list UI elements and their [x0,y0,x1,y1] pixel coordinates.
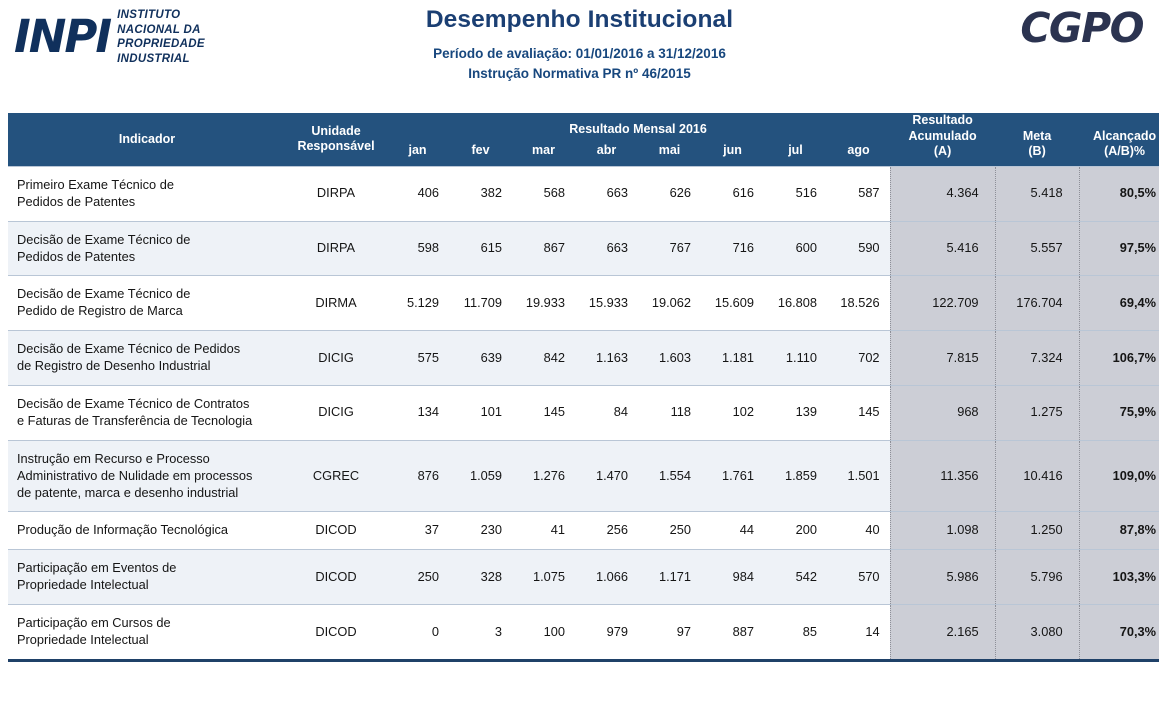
cell-month-ago: 590 [827,221,890,276]
cell-month-ago: 40 [827,512,890,550]
cell-month-mai: 1.603 [638,331,701,386]
cell-month-fev: 1.059 [449,440,512,512]
cell-meta: 1.275 [995,386,1079,441]
cell-unidade-responsavel: DICIG [286,386,386,441]
cell-month-mai: 1.554 [638,440,701,512]
cell-month-mar: 1.075 [512,550,575,605]
cell-unidade-responsavel: CGREC [286,440,386,512]
col-header-alcancado-line1: Alcançado [1079,129,1159,145]
cell-month-abr: 256 [575,512,638,550]
cell-resultado-acumulado: 5.416 [890,221,995,276]
inpi-logo: INPI INSTITUTO NACIONAL DA PROPRIEDADE I… [14,8,205,67]
cell-month-ago: 14 [827,605,890,661]
cell-resultado-acumulado: 1.098 [890,512,995,550]
indicador-line: de patente, marca e desenho industrial [17,485,282,502]
performance-table-wrap: Indicador Unidade Responsável Resultado … [8,113,1150,662]
indicador-line: Primeiro Exame Técnico de [17,177,282,194]
col-header-unidade-line2: Responsável [286,139,386,155]
cell-month-jun: 984 [701,550,764,605]
cell-resultado-acumulado: 11.356 [890,440,995,512]
cell-indicador: Primeiro Exame Técnico dePedidos de Pate… [8,166,286,221]
cell-indicador: Decisão de Exame Técnico dePedido de Reg… [8,276,286,331]
indicador-line: Administrativo de Nulidade em processos [17,468,282,485]
cell-indicador: Produção de Informação Tecnológica [8,512,286,550]
cell-resultado-acumulado: 122.709 [890,276,995,331]
cell-meta: 5.418 [995,166,1079,221]
cell-meta: 5.796 [995,550,1079,605]
col-header-month-jul: jul [764,141,827,167]
indicador-line: Decisão de Exame Técnico de Contratos [17,396,282,413]
cell-month-ago: 702 [827,331,890,386]
cell-month-jun: 887 [701,605,764,661]
col-header-meta-line1: Meta [995,129,1079,145]
cell-indicador: Decisão de Exame Técnico de Pedidosde Re… [8,331,286,386]
cell-unidade-responsavel: DIRPA [286,166,386,221]
cell-month-jun: 15.609 [701,276,764,331]
cell-resultado-acumulado: 2.165 [890,605,995,661]
cell-alcancado: 80,5% [1079,166,1159,221]
cell-unidade-responsavel: DICOD [286,550,386,605]
table-row: Decisão de Exame Técnico dePedido de Reg… [8,276,1159,331]
cell-month-jul: 1.110 [764,331,827,386]
cell-month-jul: 1.859 [764,440,827,512]
cell-month-mar: 867 [512,221,575,276]
cell-month-jun: 716 [701,221,764,276]
cell-meta: 5.557 [995,221,1079,276]
col-header-resultado-mensal: Resultado Mensal 2016 [386,113,890,141]
cell-month-jan: 134 [386,386,449,441]
cell-month-mar: 19.933 [512,276,575,331]
cell-month-jul: 85 [764,605,827,661]
indicador-line: Decisão de Exame Técnico de Pedidos [17,341,282,358]
cell-month-abr: 1.470 [575,440,638,512]
cell-month-mar: 100 [512,605,575,661]
cell-month-abr: 84 [575,386,638,441]
col-header-month-abr: abr [575,141,638,167]
cell-month-ago: 570 [827,550,890,605]
cell-month-ago: 18.526 [827,276,890,331]
indicador-line: e Faturas de Transferência de Tecnologia [17,413,282,430]
cell-month-mar: 1.276 [512,440,575,512]
table-row: Participação em Cursos dePropriedade Int… [8,605,1159,661]
inpi-logo-line-2: NACIONAL DA [117,24,201,36]
cell-month-fev: 639 [449,331,512,386]
cell-month-ago: 145 [827,386,890,441]
col-header-alcancado: Alcançado (A/B)% [1079,113,1159,166]
inpi-logo-mark: INPI [14,14,110,61]
cell-unidade-responsavel: DICOD [286,512,386,550]
cell-month-abr: 979 [575,605,638,661]
cell-meta: 7.324 [995,331,1079,386]
table-row: Decisão de Exame Técnico de Contratose F… [8,386,1159,441]
col-header-resultado-acumulado: Resultado Acumulado (A) [890,113,995,166]
cell-month-fev: 328 [449,550,512,605]
indicador-line: Participação em Cursos de [17,615,282,632]
indicador-line: Pedidos de Patentes [17,194,282,211]
cell-month-mai: 250 [638,512,701,550]
cell-month-mai: 19.062 [638,276,701,331]
col-header-unidade-line1: Unidade [286,124,386,140]
cell-resultado-acumulado: 7.815 [890,331,995,386]
cell-month-jan: 575 [386,331,449,386]
cell-indicador: Instrução em Recurso e ProcessoAdministr… [8,440,286,512]
cell-month-jan: 406 [386,166,449,221]
cell-month-ago: 587 [827,166,890,221]
cell-alcancado: 109,0% [1079,440,1159,512]
table-row: Decisão de Exame Técnico de Pedidosde Re… [8,331,1159,386]
cell-month-jan: 37 [386,512,449,550]
indicador-line: Propriedade Intelectual [17,632,282,649]
cell-month-jul: 600 [764,221,827,276]
cell-month-jan: 598 [386,221,449,276]
table-body: Primeiro Exame Técnico dePedidos de Pate… [8,166,1159,660]
cell-month-jun: 102 [701,386,764,441]
cell-alcancado: 70,3% [1079,605,1159,661]
cell-unidade-responsavel: DIRMA [286,276,386,331]
cell-month-fev: 3 [449,605,512,661]
cell-month-mar: 842 [512,331,575,386]
col-header-meta: Meta (B) [995,113,1079,166]
cell-unidade-responsavel: DICOD [286,605,386,661]
cell-alcancado: 106,7% [1079,331,1159,386]
col-header-month-jan: jan [386,141,449,167]
table-row: Produção de Informação TecnológicaDICOD3… [8,512,1159,550]
cell-month-jun: 1.761 [701,440,764,512]
table-row: Instrução em Recurso e ProcessoAdministr… [8,440,1159,512]
cell-meta: 10.416 [995,440,1079,512]
indicador-line: Produção de Informação Tecnológica [17,522,282,539]
table-row: Decisão de Exame Técnico dePedidos de Pa… [8,221,1159,276]
cell-month-jul: 200 [764,512,827,550]
cell-alcancado: 103,3% [1079,550,1159,605]
table-row: Participação em Eventos dePropriedade In… [8,550,1159,605]
indicador-line: Decisão de Exame Técnico de [17,286,282,303]
indicador-line: Instrução em Recurso e Processo [17,451,282,468]
cell-indicador: Participação em Cursos dePropriedade Int… [8,605,286,661]
cell-month-jan: 876 [386,440,449,512]
cell-month-abr: 663 [575,166,638,221]
cell-month-fev: 101 [449,386,512,441]
inpi-logo-line-1: INSTITUTO [117,9,180,21]
cell-month-jan: 250 [386,550,449,605]
cell-month-mai: 118 [638,386,701,441]
cell-month-mai: 626 [638,166,701,221]
cell-unidade-responsavel: DICIG [286,331,386,386]
cell-month-jul: 139 [764,386,827,441]
cell-month-fev: 11.709 [449,276,512,331]
indicador-line: Propriedade Intelectual [17,577,282,594]
indicador-line: Decisão de Exame Técnico de [17,232,282,249]
cell-month-ago: 1.501 [827,440,890,512]
cell-indicador: Decisão de Exame Técnico dePedidos de Pa… [8,221,286,276]
cell-month-mai: 767 [638,221,701,276]
cell-alcancado: 69,4% [1079,276,1159,331]
normative-instruction: Instrução Normativa PR nº 46/2015 [0,64,1159,84]
col-header-meta-line2: (B) [995,144,1079,160]
table-header: Indicador Unidade Responsável Resultado … [8,113,1159,166]
indicador-line: Participação em Eventos de [17,560,282,577]
col-header-acumulado-line3: (A) [890,144,995,160]
cell-month-fev: 615 [449,221,512,276]
cell-meta: 1.250 [995,512,1079,550]
table-header-row-top: Indicador Unidade Responsável Resultado … [8,113,1159,141]
cell-month-jun: 44 [701,512,764,550]
cell-meta: 176.704 [995,276,1079,331]
cell-month-jun: 1.181 [701,331,764,386]
table-row: Primeiro Exame Técnico dePedidos de Pate… [8,166,1159,221]
cell-resultado-acumulado: 5.986 [890,550,995,605]
inpi-logo-line-4: INDUSTRIAL [117,53,190,65]
inpi-logo-wordmark: INSTITUTO NACIONAL DA PROPRIEDADE INDUST… [117,8,205,67]
cell-month-abr: 15.933 [575,276,638,331]
cell-month-abr: 1.163 [575,331,638,386]
col-header-acumulado-line1: Resultado [890,113,995,129]
col-header-month-mar: mar [512,141,575,167]
cell-month-jul: 16.808 [764,276,827,331]
col-header-month-ago: ago [827,141,890,167]
page-header: INPI INSTITUTO NACIONAL DA PROPRIEDADE I… [0,0,1159,108]
cell-month-jan: 5.129 [386,276,449,331]
cell-month-jan: 0 [386,605,449,661]
cell-month-mai: 1.171 [638,550,701,605]
cell-month-fev: 230 [449,512,512,550]
cell-month-mar: 41 [512,512,575,550]
cell-resultado-acumulado: 4.364 [890,166,995,221]
cell-month-abr: 1.066 [575,550,638,605]
cell-month-mar: 145 [512,386,575,441]
inpi-logo-line-3: PROPRIEDADE [117,38,205,50]
cell-month-abr: 663 [575,221,638,276]
cell-month-mai: 97 [638,605,701,661]
cell-alcancado: 87,8% [1079,512,1159,550]
cell-month-mar: 568 [512,166,575,221]
col-header-month-mai: mai [638,141,701,167]
cell-month-jul: 542 [764,550,827,605]
cell-unidade-responsavel: DIRPA [286,221,386,276]
cell-alcancado: 75,9% [1079,386,1159,441]
cell-month-jun: 616 [701,166,764,221]
indicador-line: Pedido de Registro de Marca [17,303,282,320]
cell-alcancado: 97,5% [1079,221,1159,276]
cell-resultado-acumulado: 968 [890,386,995,441]
cell-meta: 3.080 [995,605,1079,661]
col-header-indicador: Indicador [8,113,286,166]
cgpo-logo: CGPO [1020,8,1143,49]
indicador-line: de Registro de Desenho Industrial [17,358,282,375]
cell-indicador: Decisão de Exame Técnico de Contratose F… [8,386,286,441]
col-header-unidade-responsavel: Unidade Responsável [286,113,386,166]
cell-month-jul: 516 [764,166,827,221]
col-header-month-fev: fev [449,141,512,167]
cell-month-fev: 382 [449,166,512,221]
col-header-alcancado-line2: (A/B)% [1079,144,1159,160]
performance-table: Indicador Unidade Responsável Resultado … [8,113,1159,662]
col-header-month-jun: jun [701,141,764,167]
cell-indicador: Participação em Eventos dePropriedade In… [8,550,286,605]
indicador-line: Pedidos de Patentes [17,249,282,266]
col-header-acumulado-line2: Acumulado [890,129,995,145]
